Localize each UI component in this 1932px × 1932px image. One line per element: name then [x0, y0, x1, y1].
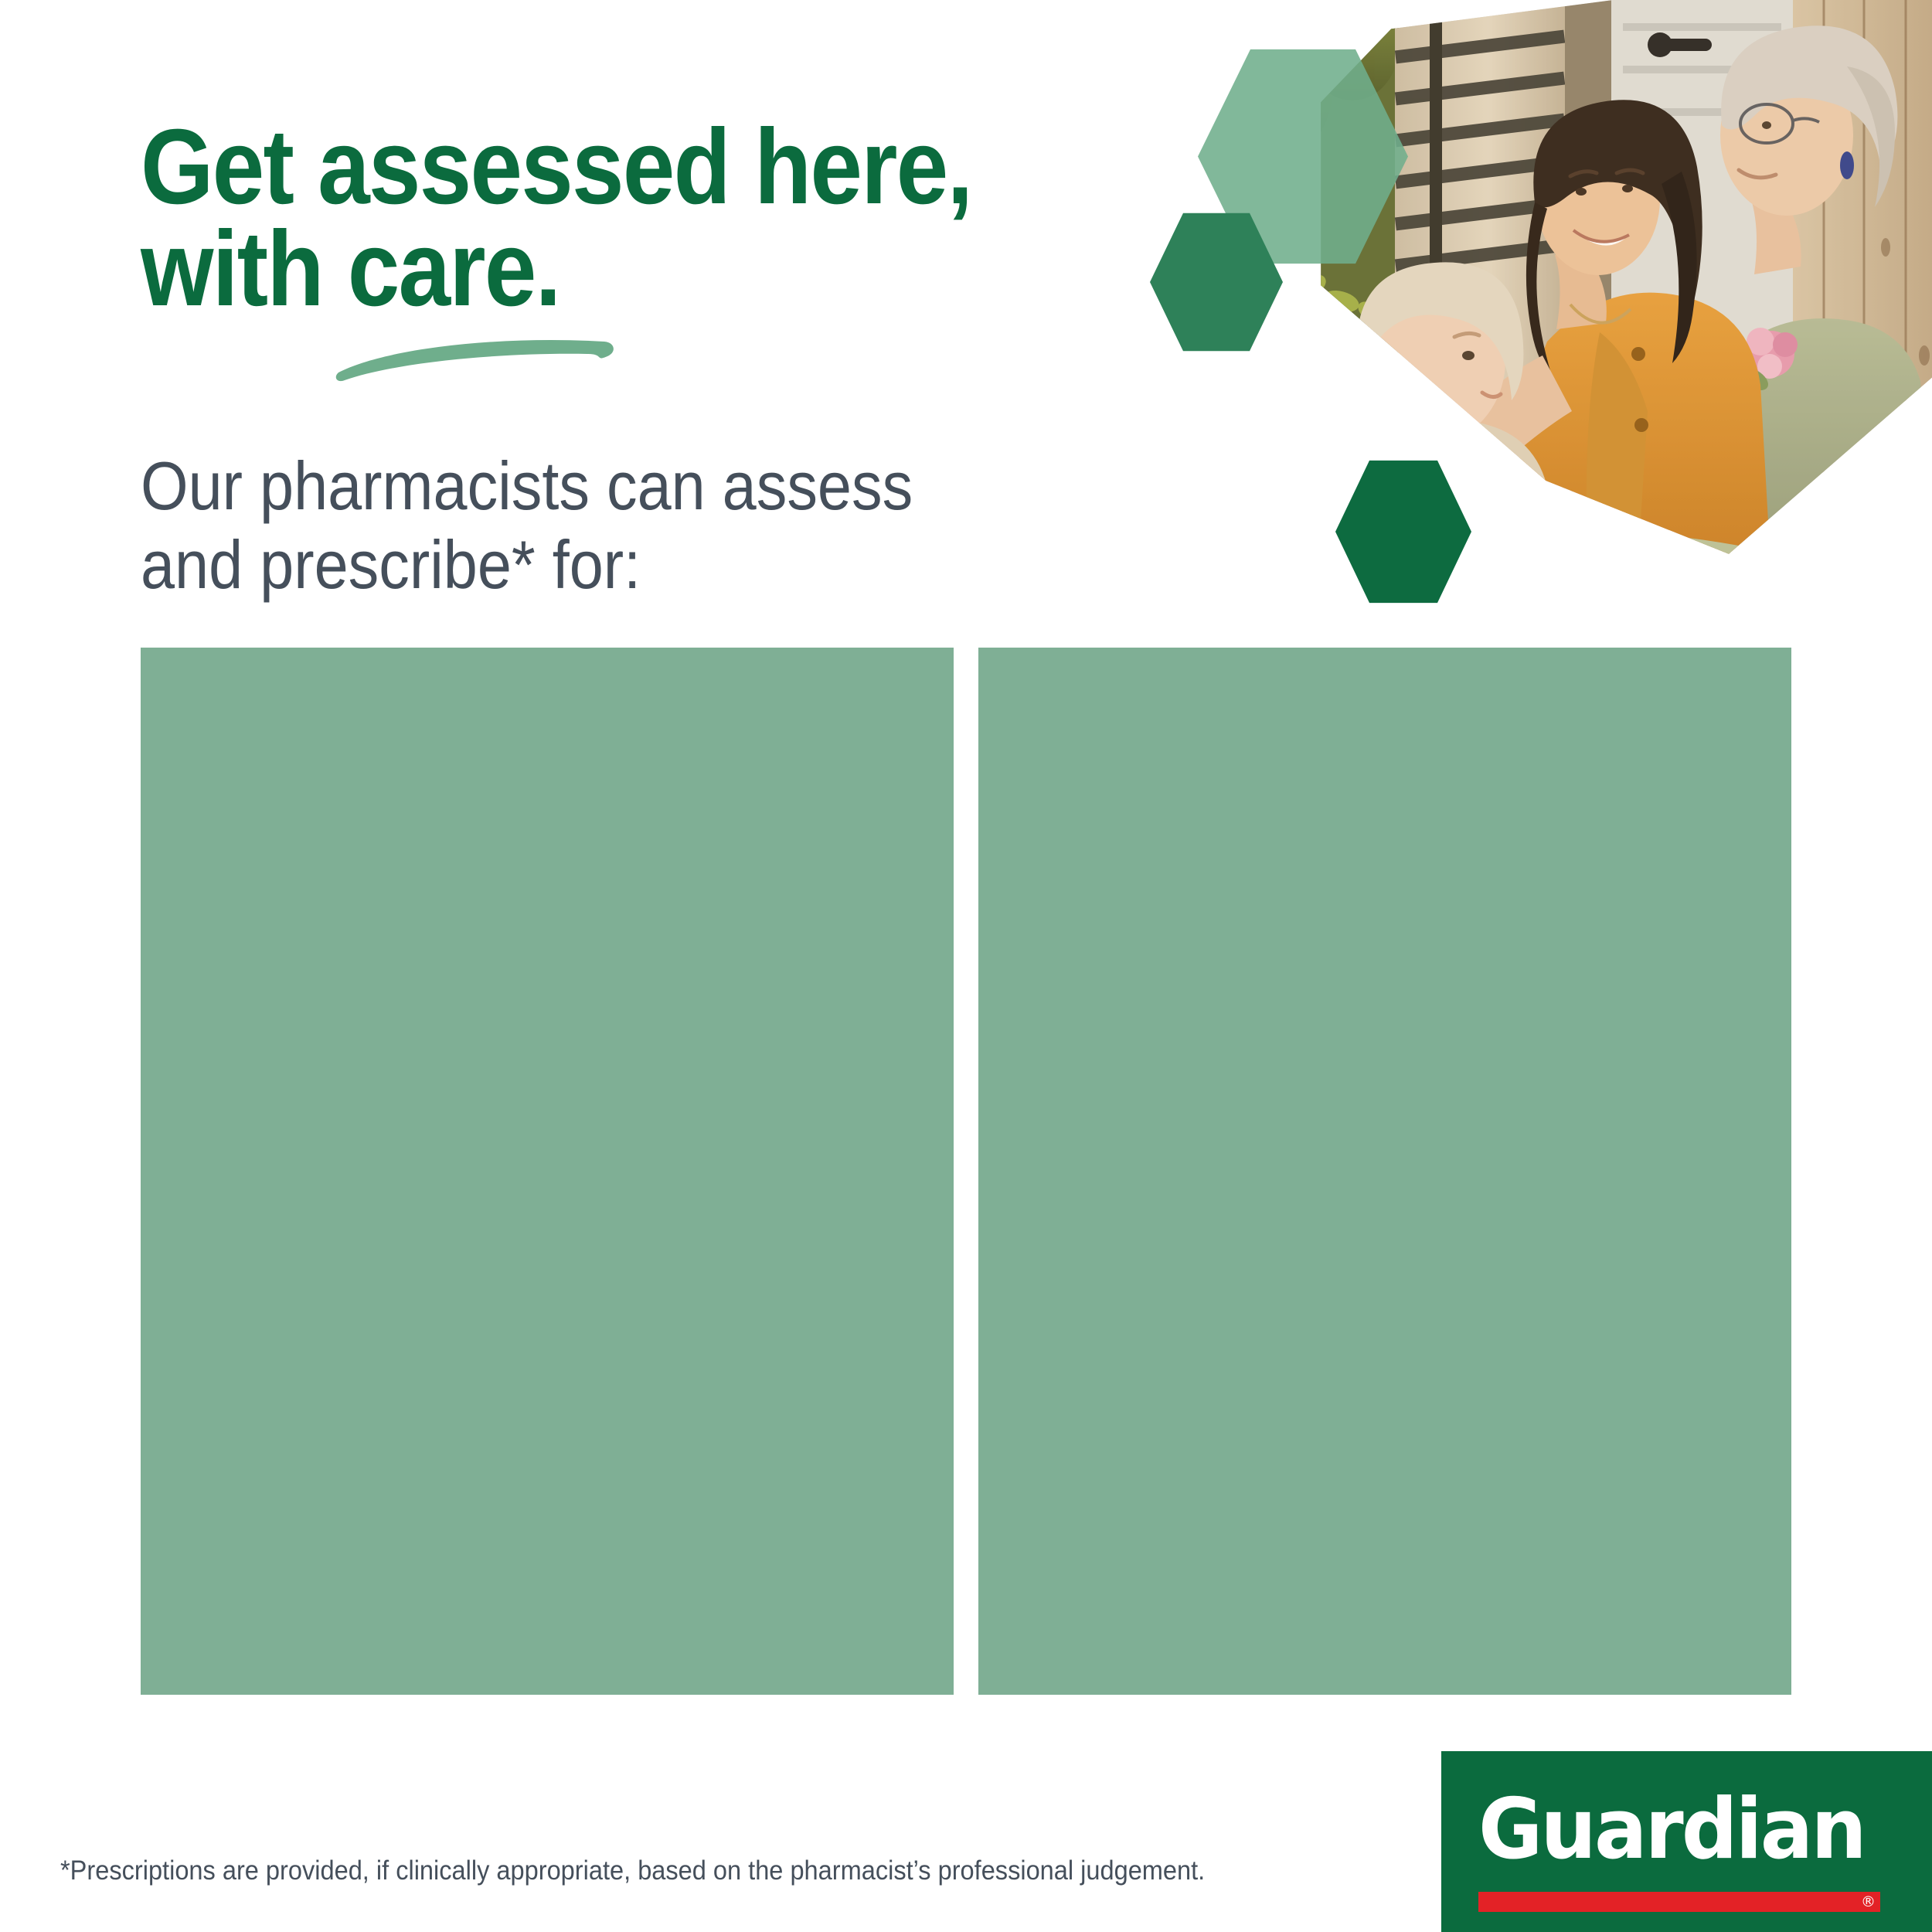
footnote: *Prescriptions are provided, if clinical…: [60, 1855, 1282, 1887]
headline: Get assessed here, with care.: [141, 116, 998, 321]
guardian-wordmark: Guardian: [1478, 1788, 1865, 1872]
registered-trademark-icon: ®: [1861, 1893, 1876, 1911]
hexagon-dark-solid-icon: [1335, 456, 1471, 607]
subheading: Our pharmacists can assess and prescribe…: [141, 447, 975, 604]
subheading-line-2: and prescribe* for:: [141, 526, 975, 604]
right-content-panel: [978, 648, 1791, 1695]
subheading-line-1: Our pharmacists can assess: [141, 447, 975, 526]
poster-canvas: Get assessed here, with care. Our pharma…: [0, 0, 1932, 1932]
headline-line-2: with care.: [141, 218, 998, 320]
swoosh-underline-icon: [332, 331, 618, 385]
left-content-panel: [141, 648, 954, 1695]
guardian-logo-bar: ®: [1478, 1892, 1880, 1912]
hero-graphic-group: [1144, 0, 1932, 618]
headline-line-1: Get assessed here,: [141, 116, 998, 218]
guardian-logo: Guardian ®: [1441, 1751, 1932, 1932]
